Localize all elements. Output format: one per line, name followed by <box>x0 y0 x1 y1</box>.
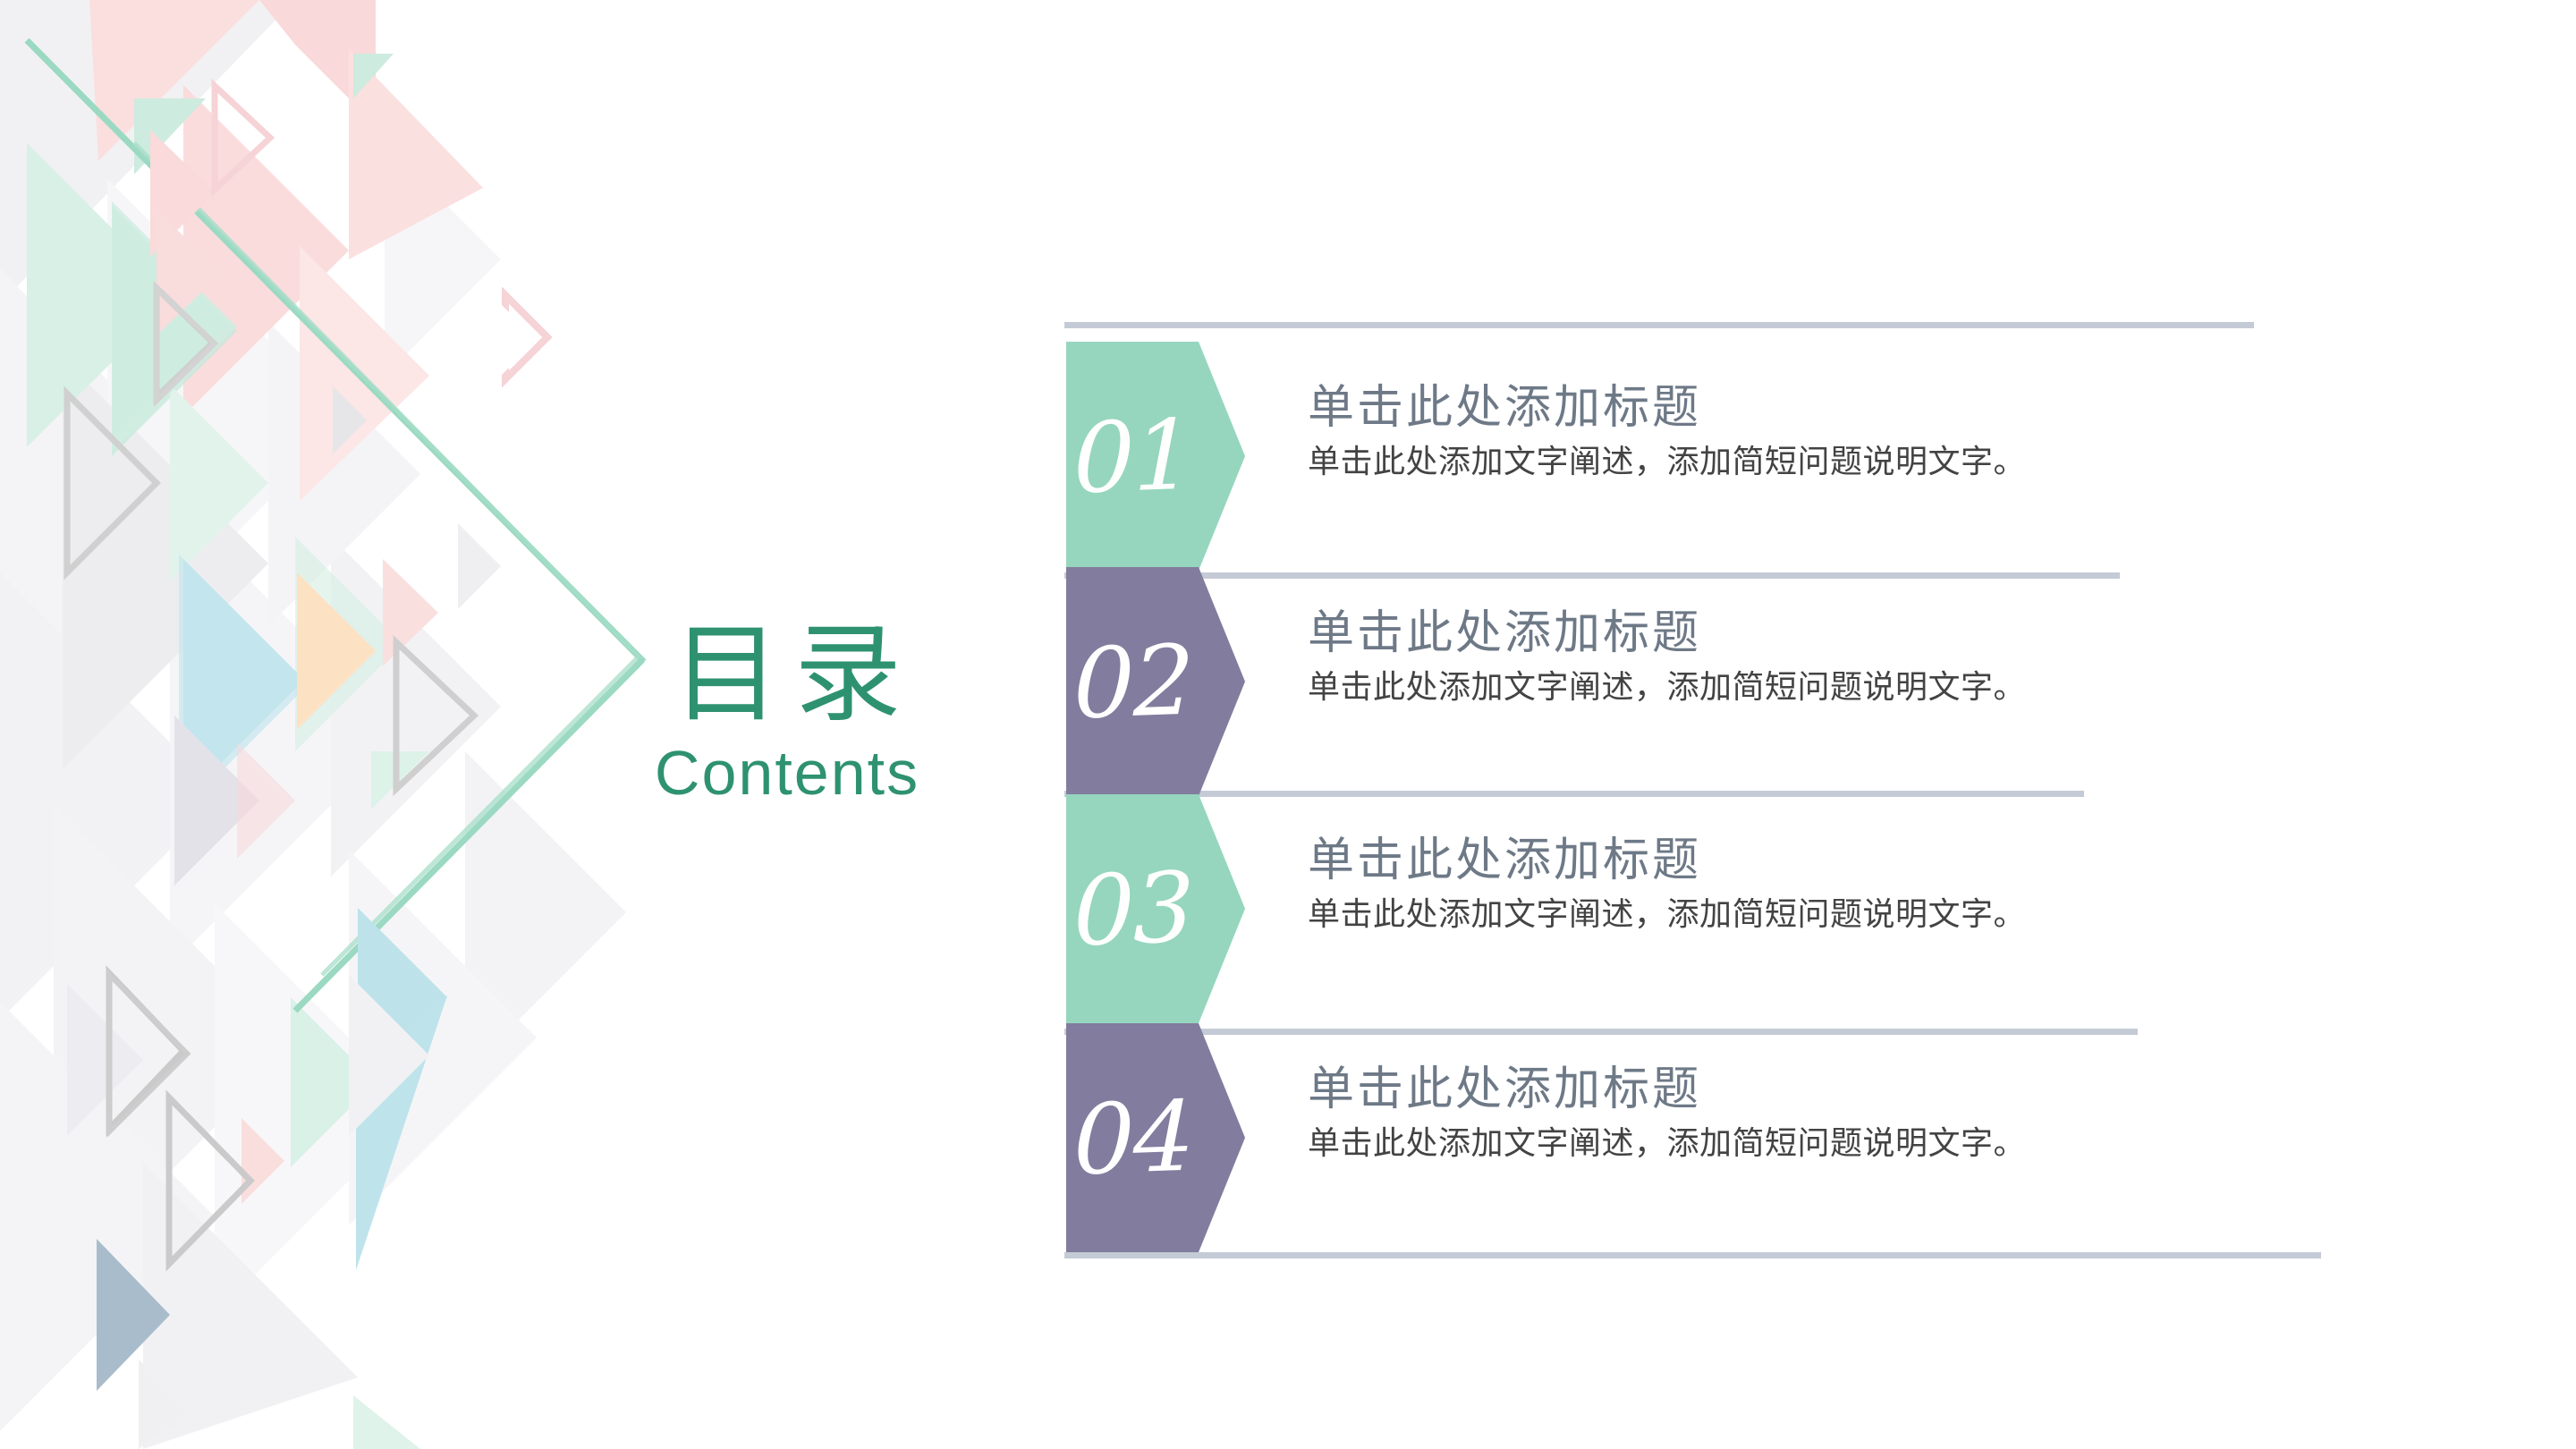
item-number-badge: 03 <box>1066 794 1245 1023</box>
contents-item[interactable]: 01 单击此处添加标题 单击此处添加文字阐述，添加简短问题说明文字。 <box>1064 331 2406 562</box>
item-number-label: 03 <box>1066 792 1245 1027</box>
item-description: 单击此处添加文字阐述，添加简短问题说明文字。 <box>1308 1123 2363 1162</box>
presentation-slide: 目录 Contents 01 单击此处添加标题 单击此处添加文字阐述，添加简短问… <box>0 0 2576 1449</box>
item-number-label: 01 <box>1066 339 1245 574</box>
contents-item[interactable]: 03 单击此处添加标题 单击此处添加文字阐述，添加简短问题说明文字。 <box>1064 784 2406 1014</box>
item-title: 单击此处添加标题 <box>1308 381 2363 435</box>
item-title: 单击此处添加标题 <box>1308 1063 2363 1116</box>
slide-title-block: 目录 Contents <box>572 617 1002 808</box>
item-number-label: 02 <box>1066 564 1245 800</box>
item-title: 单击此处添加标题 <box>1308 834 2363 887</box>
item-description: 单击此处添加文字阐述，添加简短问题说明文字。 <box>1308 442 2363 480</box>
item-description: 单击此处添加文字阐述，添加简短问题说明文字。 <box>1308 894 2363 933</box>
item-number-label: 04 <box>1066 1021 1245 1256</box>
item-number-badge: 02 <box>1066 567 1245 796</box>
separator-rule-1 <box>1064 322 2254 328</box>
item-text-column: 单击此处添加标题 单击此处添加文字阐述，添加简短问题说明文字。 <box>1308 834 2363 934</box>
contents-item[interactable]: 04 单击此处添加标题 单击此处添加文字阐述，添加简短问题说明文字。 <box>1064 1013 2406 1243</box>
item-number-badge: 04 <box>1066 1023 1245 1252</box>
separator-rule-5 <box>1064 1252 2321 1258</box>
item-text-column: 单击此处添加标题 单击此处添加文字阐述，添加简短问题说明文字。 <box>1308 1063 2363 1163</box>
item-number-badge: 01 <box>1066 342 1245 571</box>
item-title: 单击此处添加标题 <box>1308 606 2363 660</box>
contents-item[interactable]: 02 单击此处添加标题 单击此处添加文字阐述，添加简短问题说明文字。 <box>1064 556 2406 787</box>
contents-list: 01 单击此处添加标题 单击此处添加文字阐述，添加简短问题说明文字。 02 单击… <box>1064 322 2406 1261</box>
item-text-column: 单击此处添加标题 单击此处添加文字阐述，添加简短问题说明文字。 <box>1308 606 2363 707</box>
page-title-en: Contents <box>572 739 1002 808</box>
item-text-column: 单击此处添加标题 单击此处添加文字阐述，添加简短问题说明文字。 <box>1308 381 2363 481</box>
page-title-cn: 目录 <box>572 617 1002 733</box>
item-description: 单击此处添加文字阐述，添加简短问题说明文字。 <box>1308 667 2363 706</box>
